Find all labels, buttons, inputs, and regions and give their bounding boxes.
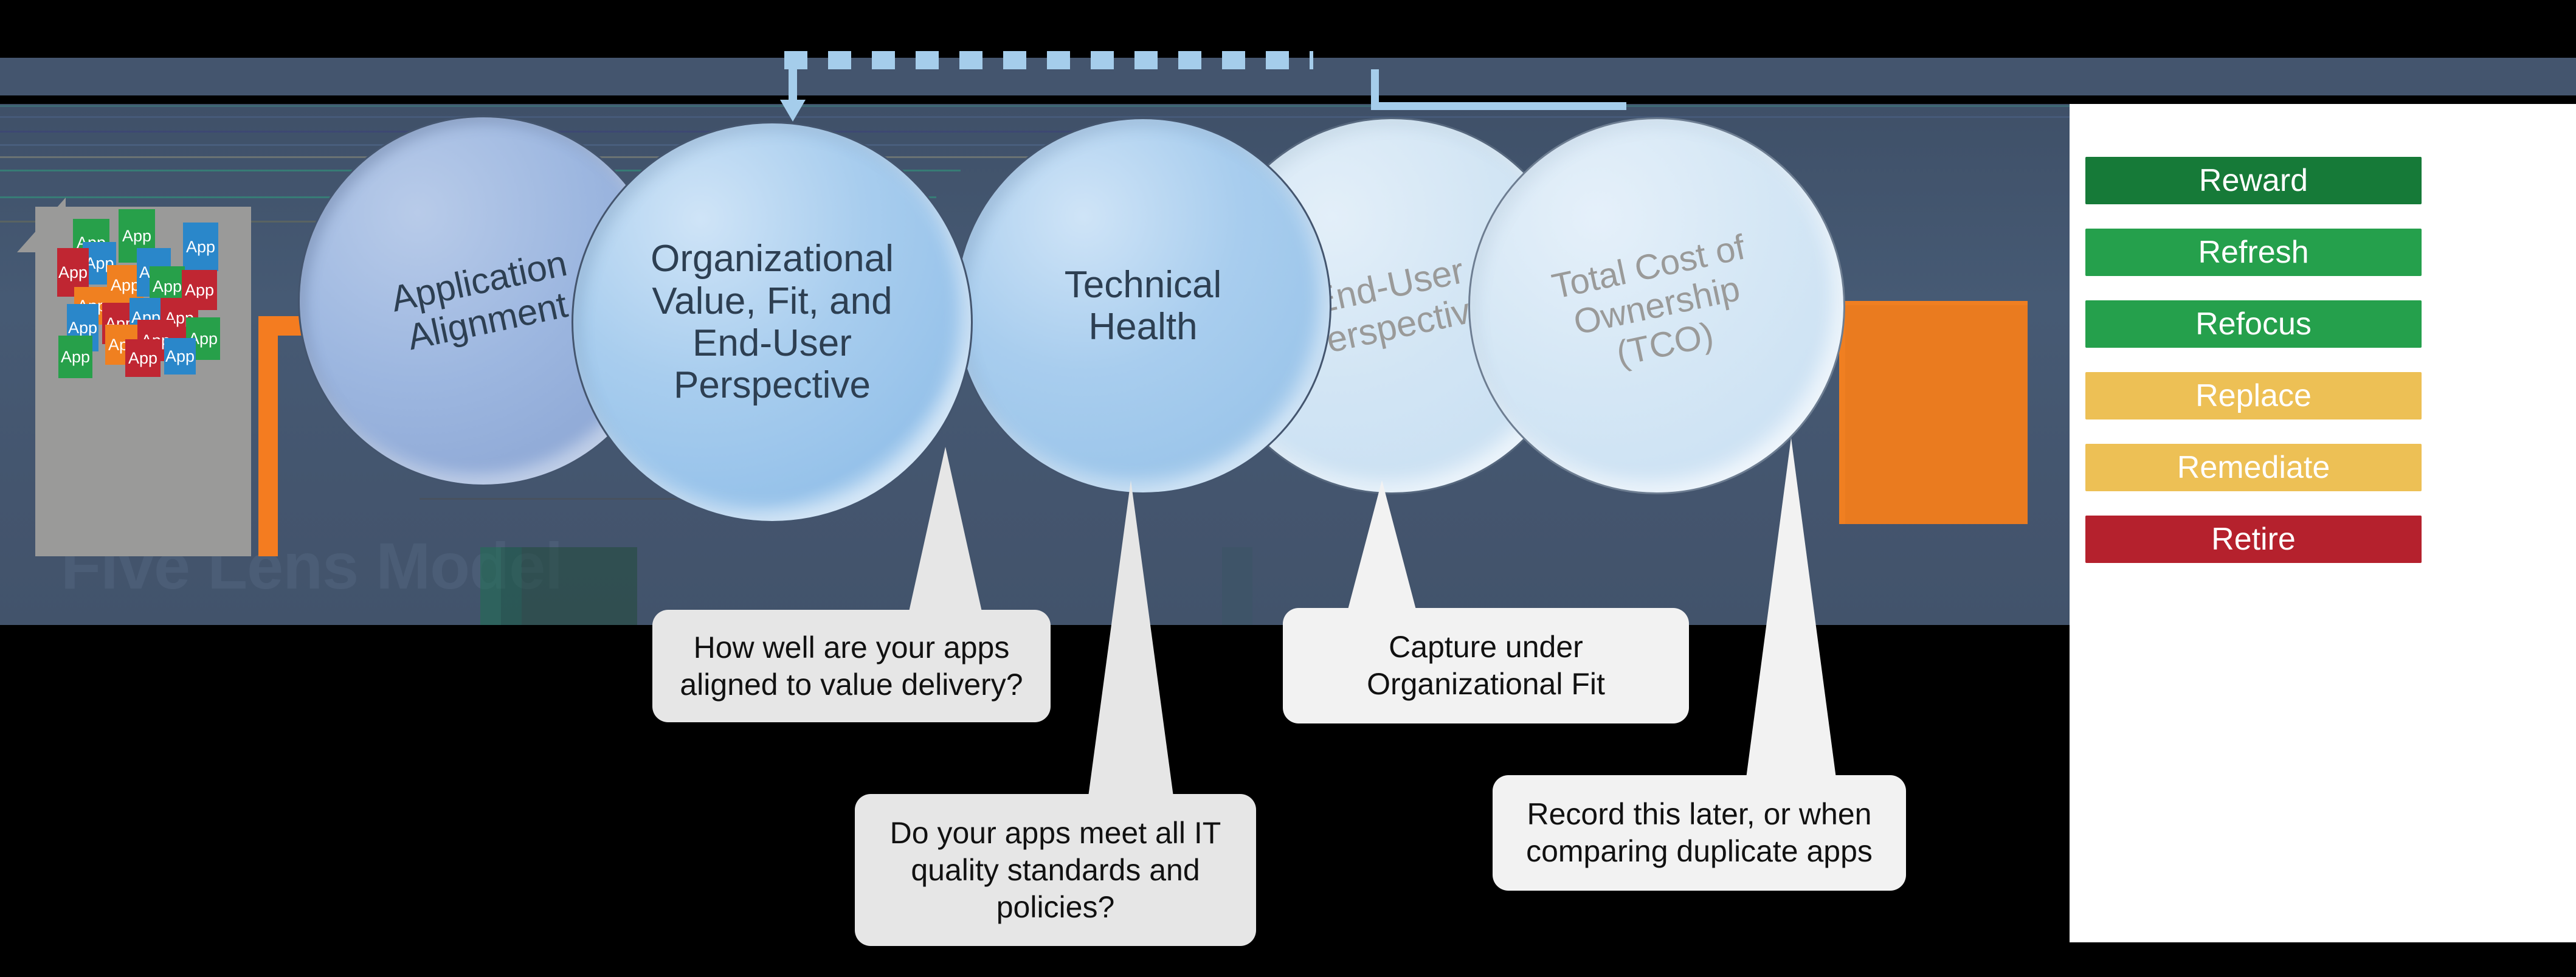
app-tile: App bbox=[58, 336, 92, 378]
disposition-chip-replace[interactable]: Replace bbox=[2085, 372, 2422, 419]
lens-label-technical-health: Technical Health bbox=[1065, 264, 1221, 348]
disposition-chip-reward[interactable]: Reward bbox=[2085, 157, 2422, 204]
app-tile-label: App bbox=[153, 277, 182, 296]
app-tile-label: App bbox=[111, 276, 140, 295]
lens-label-application-alignment: Application Alignment bbox=[387, 243, 579, 359]
callout-record-note[interactable]: Record this later, or when comparing dup… bbox=[1493, 775, 1906, 891]
down-arrow-icon bbox=[780, 100, 806, 122]
title-clip-top bbox=[2070, 0, 2576, 58]
dashed-connector-line bbox=[784, 51, 1313, 69]
disposition-label: Refresh bbox=[2198, 234, 2308, 271]
title-clip-bottom bbox=[2070, 95, 2576, 104]
title-clip-bar bbox=[2070, 58, 2576, 95]
callout-text-quality: Do your apps meet all IT quality standar… bbox=[890, 815, 1221, 926]
app-tile: App bbox=[164, 338, 196, 375]
lens-label-organizational-value: Organizational Value, Fit, and End-User … bbox=[651, 238, 894, 407]
disposition-label: Reward bbox=[2199, 162, 2308, 199]
disposition-chip-refocus[interactable]: Refocus bbox=[2085, 300, 2422, 348]
callout-tail-quality bbox=[1088, 480, 1173, 796]
app-tile-label: App bbox=[68, 319, 97, 337]
app-tile: App bbox=[183, 223, 218, 271]
lens-circle-technical-health[interactable]: Technical Health bbox=[955, 117, 1331, 494]
app-tile-label: App bbox=[58, 263, 88, 282]
app-tile-label: App bbox=[122, 227, 151, 246]
application-bin: AppAppAppAppAppAppAppAppAppAppAppAppAppA… bbox=[17, 198, 254, 556]
app-tile-label: App bbox=[186, 238, 215, 257]
callout-tail-record bbox=[1746, 438, 1836, 778]
orange-block-front bbox=[1845, 305, 2028, 524]
disposition-label: Refocus bbox=[2195, 306, 2312, 342]
bin-contents: AppAppAppAppAppAppAppAppAppAppAppAppAppA… bbox=[35, 207, 251, 486]
callout-text-alignment: How well are your apps aligned to value … bbox=[680, 629, 1023, 703]
app-tile-label: App bbox=[61, 348, 90, 367]
disposition-label: Remediate bbox=[2177, 449, 2330, 486]
disposition-chip-remediate[interactable]: Remediate bbox=[2085, 444, 2422, 491]
disposition-chip-retire[interactable]: Retire bbox=[2085, 516, 2422, 563]
diagram-canvas: Five Lens Model AppAppAppAppAppAppAppApp… bbox=[0, 0, 2576, 977]
callout-text-capture: Capture under Organizational Fit bbox=[1367, 629, 1605, 703]
disposition-label: Replace bbox=[2195, 378, 2312, 414]
app-tile-label: App bbox=[165, 347, 195, 366]
callout-capture-note[interactable]: Capture under Organizational Fit bbox=[1283, 608, 1689, 723]
app-tile-label: App bbox=[185, 281, 214, 300]
callout-alignment-question[interactable]: How well are your apps aligned to value … bbox=[652, 610, 1051, 722]
disposition-chip-refresh[interactable]: Refresh bbox=[2085, 229, 2422, 276]
connector-elbow-horizontal bbox=[1371, 102, 1626, 110]
callout-tail-alignment bbox=[908, 447, 983, 617]
app-tile-label: App bbox=[128, 349, 157, 368]
callout-text-record: Record this later, or when comparing dup… bbox=[1526, 796, 1873, 870]
callout-tail-capture bbox=[1347, 480, 1417, 614]
orange-accent-vertical bbox=[258, 316, 278, 556]
callout-quality-question[interactable]: Do your apps meet all IT quality standar… bbox=[855, 794, 1256, 946]
connector-arrow-stem bbox=[789, 69, 797, 103]
disposition-label: Retire bbox=[2211, 521, 2296, 558]
app-tile: App bbox=[125, 339, 161, 377]
lens-label-total-cost-ownership: Total Cost of Ownership (TCO) bbox=[1549, 227, 1765, 384]
